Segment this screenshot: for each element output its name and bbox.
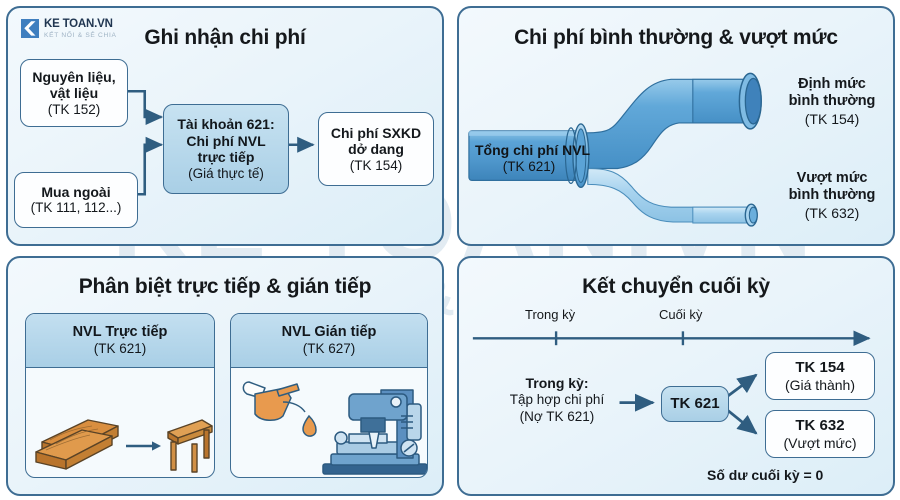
pipe-main-label: Tổng chi phí NVL (TK 621) xyxy=(475,142,583,175)
outlet-normal-line1: Định mức xyxy=(777,76,887,93)
box-target-tk632: TK 632 (Vượt mức) xyxy=(765,410,875,458)
box-wip-line1: Chi phí SXKD xyxy=(331,125,421,142)
card-indirect-material-header: NVL Gián tiếp (TK 627) xyxy=(231,314,427,368)
box-account-621-line3: trực tiếp xyxy=(198,149,255,166)
transfer-source-line1: Trong kỳ: xyxy=(491,375,623,392)
card-indirect-material: NVL Gián tiếp (TK 627) xyxy=(230,313,428,478)
box-purchase-outside: Mua ngoài (TK 111, 112...) xyxy=(14,172,138,228)
outlet-excess-line1: Vượt mức xyxy=(777,170,887,187)
panel-period-end-transfer: Kết chuyển cuối kỳ Trong kỳ C xyxy=(457,256,895,496)
box-raw-material-account: (TK 152) xyxy=(48,102,101,118)
box-raw-material: Nguyên liệu, vật liệu (TK 152) xyxy=(20,59,128,127)
wood-planks-to-table-icon xyxy=(26,368,215,478)
transfer-source-line2: Tập hợp chi phí xyxy=(491,392,623,409)
label-outlet-excess: Vượt mức bình thường (TK 632) xyxy=(777,170,887,222)
transfer-source-line3: (Nợ TK 621) xyxy=(491,409,623,426)
panel-normal-excess: Chi phí bình thường & vượt mức xyxy=(457,6,895,246)
pipe-main-line2: (TK 621) xyxy=(475,159,583,175)
box-account-621-line1: Tài khoản 621: xyxy=(177,116,274,133)
box-purchase-outside-line1: Mua ngoài xyxy=(41,184,110,201)
outlet-excess-line2: bình thường xyxy=(777,187,887,204)
box-purchase-outside-account: (TK 111, 112...) xyxy=(31,200,122,216)
box-account-621-line4: (Giá thực tế) xyxy=(188,166,264,182)
box-account-621: Tài khoản 621: Chi phí NVL trực tiếp (Gi… xyxy=(163,104,289,194)
hub-label: TK 621 xyxy=(670,395,719,413)
panel-direct-indirect: Phân biệt trực tiếp & gián tiếp NVL Trực… xyxy=(6,256,444,496)
panel-record-cost: KE TOAN.VN KẾT NỐI & SẺ CHIA Ghi nhận ch… xyxy=(6,6,444,246)
outlet-excess-account: (TK 632) xyxy=(777,205,887,222)
panel-title-direct-indirect: Phân biệt trực tiếp & gián tiếp xyxy=(8,275,442,299)
card-direct-material: NVL Trực tiếp (TK 621) xyxy=(25,313,215,478)
box-wip-line2: dở dang xyxy=(348,141,404,158)
transfer-source-label: Trong kỳ: Tập hợp chi phí (Nợ TK 621) xyxy=(491,375,623,426)
card-direct-material-heading: NVL Trực tiếp xyxy=(73,324,168,341)
label-outlet-normal: Định mức bình thường (TK 154) xyxy=(777,76,887,128)
timeline-tick-label-1: Trong kỳ xyxy=(525,307,575,322)
oil-can-drilling-machine-icon xyxy=(231,368,428,478)
card-direct-material-account: (TK 621) xyxy=(94,341,147,357)
card-direct-material-header: NVL Trực tiếp (TK 621) xyxy=(26,314,214,368)
outlet-normal-account: (TK 154) xyxy=(777,111,887,128)
infographic-root: KE TOAN.VN KET NOI & SE CHIA KE TOAN.VN … xyxy=(0,0,900,500)
target-tk154-line1: TK 154 xyxy=(795,359,844,377)
outlet-normal-line2: bình thường xyxy=(777,93,887,110)
box-target-tk154: TK 154 (Giá thành) xyxy=(765,352,875,400)
box-wip-154: Chi phí SXKD dở dang (TK 154) xyxy=(318,112,434,186)
box-account-621-line2: Chi phí NVL xyxy=(186,133,265,150)
target-tk632-line2: (Vượt mức) xyxy=(783,435,856,452)
box-raw-material-line2: vật liệu xyxy=(50,85,98,102)
pipe-main-line1: Tổng chi phí NVL xyxy=(475,142,583,159)
target-tk632-line1: TK 632 xyxy=(795,417,844,435)
card-indirect-material-heading: NVL Gián tiếp xyxy=(282,324,377,341)
closing-balance-note: Số dư cuối kỳ = 0 xyxy=(707,467,823,483)
box-wip-account: (TK 154) xyxy=(350,158,403,174)
card-indirect-material-account: (TK 627) xyxy=(303,341,356,357)
target-tk154-line2: (Giá thành) xyxy=(785,377,855,394)
box-raw-material-line1: Nguyên liệu, xyxy=(32,69,115,86)
box-hub-tk621: TK 621 xyxy=(661,386,729,422)
timeline-tick-label-2: Cuối kỳ xyxy=(659,307,702,322)
